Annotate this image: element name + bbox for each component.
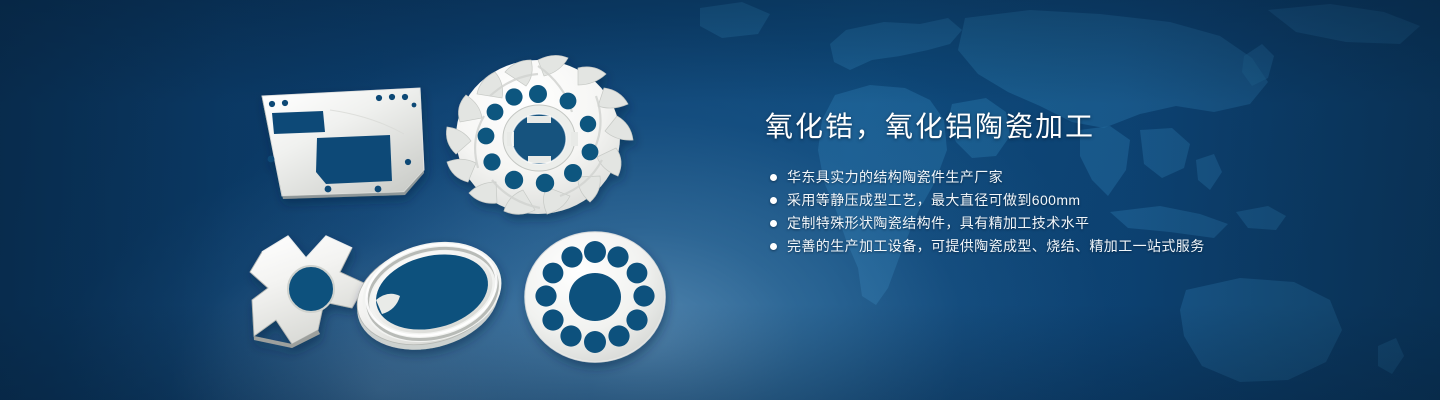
- page-title: 氧化锆，氧化铝陶瓷加工: [765, 110, 1385, 144]
- list-item: 定制特殊形状陶瓷结构件，具有精加工技术水平: [765, 212, 1385, 235]
- list-item: 完善的生产加工设备，可提供陶瓷成型、烧结、精加工一站式服务: [765, 235, 1385, 258]
- ceramic-ring: [347, 231, 510, 364]
- ceramic-mounting-plate: [262, 88, 424, 199]
- ceramic-perforated-disc: [525, 232, 665, 362]
- ceramic-cross-part: [250, 236, 366, 348]
- list-item: 华东具实力的结构陶瓷件生产厂家: [765, 166, 1385, 189]
- product-image-group: [0, 0, 720, 400]
- list-item-label: 华东具实力的结构陶瓷件生产厂家: [787, 166, 1003, 189]
- banner-copy: 氧化锆，氧化铝陶瓷加工 华东具实力的结构陶瓷件生产厂家 采用等静压成型工艺，最大…: [765, 110, 1385, 258]
- list-item-label: 采用等静压成型工艺，最大直径可做到600mm: [787, 189, 1080, 212]
- bullet-dot-icon: [770, 174, 777, 181]
- feature-list: 华东具实力的结构陶瓷件生产厂家 采用等静压成型工艺，最大直径可做到600mm 定…: [765, 166, 1385, 258]
- bullet-dot-icon: [770, 243, 777, 250]
- ceramic-impeller: [446, 55, 633, 214]
- bullet-dot-icon: [770, 220, 777, 227]
- hero-banner: 氧化锆，氧化铝陶瓷加工 华东具实力的结构陶瓷件生产厂家 采用等静压成型工艺，最大…: [0, 0, 1440, 400]
- list-item-label: 完善的生产加工设备，可提供陶瓷成型、烧结、精加工一站式服务: [787, 235, 1205, 258]
- bullet-dot-icon: [770, 197, 777, 204]
- list-item: 采用等静压成型工艺，最大直径可做到600mm: [765, 189, 1385, 212]
- list-item-label: 定制特殊形状陶瓷结构件，具有精加工技术水平: [787, 212, 1089, 235]
